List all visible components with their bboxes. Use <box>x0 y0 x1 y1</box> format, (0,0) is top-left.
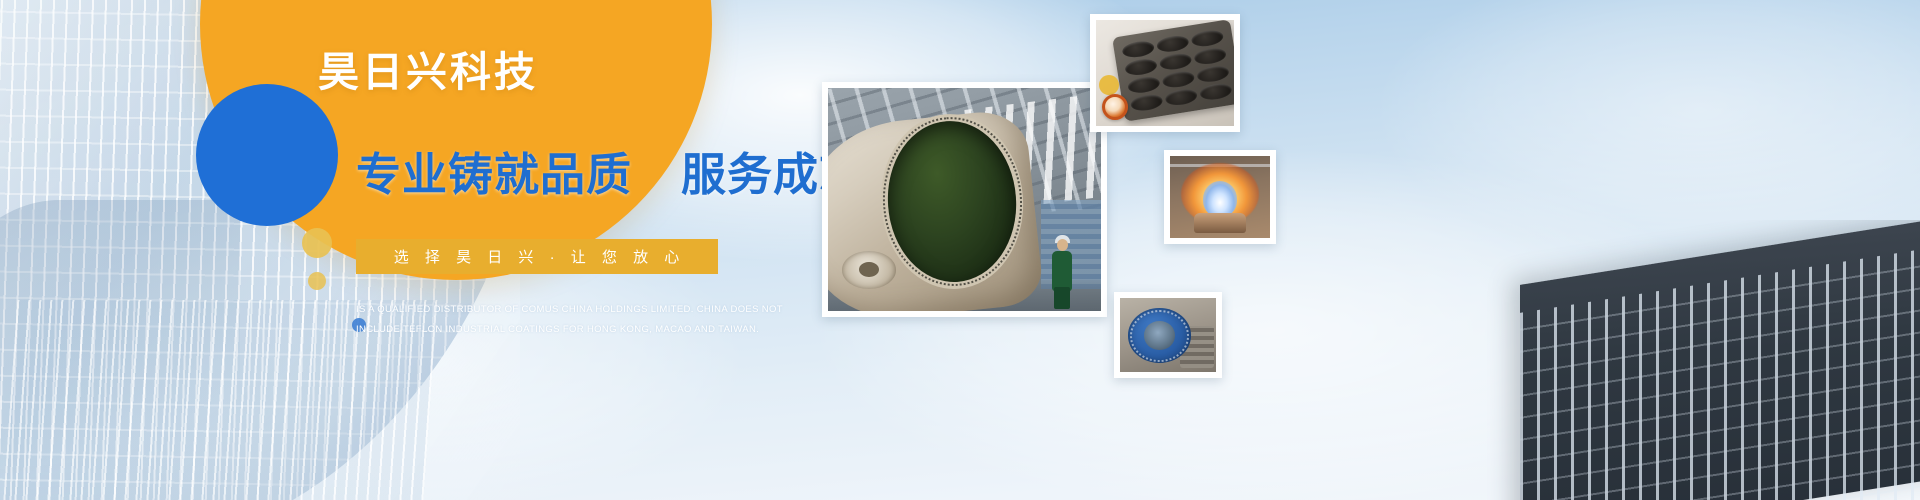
pan-cup <box>1162 70 1196 90</box>
pan-cup <box>1124 57 1158 77</box>
red-coated-ring <box>1102 94 1128 120</box>
pan-cup <box>1191 29 1225 49</box>
pan-cup <box>1122 39 1156 59</box>
disclaimer-line-2: INCLUDE TEFLON INDUSTRIAL COATINGS FOR H… <box>356 320 756 340</box>
tagline-text: 选 择 昊 日 兴 · 让 您 放 心 <box>389 246 686 267</box>
pan-cup <box>1194 46 1228 66</box>
ring-photo-inner <box>1120 298 1216 372</box>
vessel-photo-inner <box>828 88 1101 311</box>
pan-cup <box>1130 93 1164 113</box>
blue-flange-ring-photo <box>1114 292 1222 378</box>
flame-spray-coating-photo <box>1164 150 1276 244</box>
primary-tower-windows <box>1520 243 1920 500</box>
tray-photo-inner <box>1096 20 1234 126</box>
company-brand-name: 昊日兴科技 <box>318 52 538 93</box>
flange-bolt-holes <box>1130 310 1190 362</box>
muffin-pan-cups <box>1122 29 1234 114</box>
yellow-dot-small <box>308 272 326 290</box>
worker-figure <box>1050 235 1076 307</box>
yellow-coated-ring <box>1099 75 1119 95</box>
worker-body <box>1052 251 1072 291</box>
pan-cup <box>1156 34 1190 54</box>
flame-equipment-base <box>1194 213 1246 233</box>
blue-circle-shape <box>196 84 338 226</box>
nonstick-baking-tray-photo <box>1090 14 1240 132</box>
disclaimer-line-1: IS A QUALIFIED DISTRIBUTOR OF COMUS CHIN… <box>356 300 756 320</box>
yellow-dot-large <box>302 228 332 258</box>
flame-photo-inner <box>1170 156 1270 238</box>
pan-cup <box>1196 64 1230 84</box>
worker-head <box>1057 239 1068 251</box>
vessel-side-flange <box>842 251 897 289</box>
pan-cup <box>1127 75 1161 95</box>
headline-part-1: 专业铸就品质 <box>356 149 632 200</box>
tagline-bar: 选 择 昊 日 兴 · 让 您 放 心 <box>356 239 718 274</box>
pan-cup <box>1165 88 1199 108</box>
worker-legs <box>1054 287 1070 309</box>
disclaimer-text: IS A QUALIFIED DISTRIBUTOR OF COMUS CHIN… <box>356 300 756 340</box>
flame-core <box>1203 181 1237 217</box>
industrial-vessel-coating-photo <box>822 82 1107 317</box>
right-architecture-backdrop <box>1370 220 1920 500</box>
pan-cup <box>1199 82 1233 102</box>
pan-cup <box>1159 52 1193 72</box>
hero-banner: 昊日兴科技 专业铸就品质 服务成就辉煌 选 择 昊 日 兴 · 让 您 放 心 … <box>0 0 1920 500</box>
muffin-pan <box>1112 20 1234 122</box>
primary-tower <box>1520 220 1920 500</box>
